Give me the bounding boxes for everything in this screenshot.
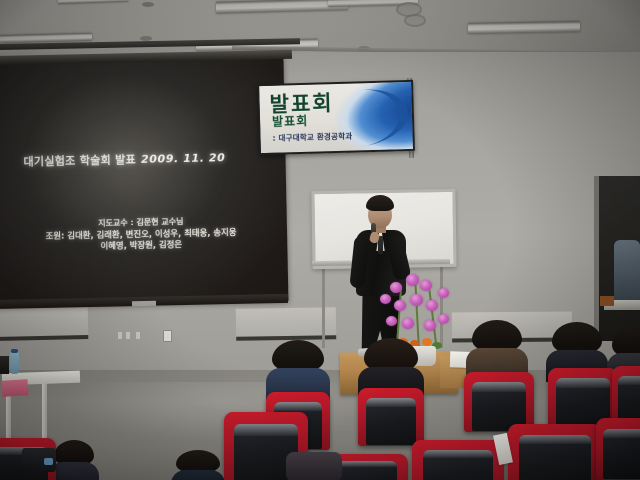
orange-filler-flower bbox=[422, 338, 432, 346]
seat-front-5[interactable] bbox=[596, 418, 640, 480]
orchid-bloom bbox=[424, 320, 436, 331]
slide-title-text: 대기실험조 학술회 발표 bbox=[23, 153, 136, 168]
presenter-hair bbox=[366, 195, 394, 211]
projection-screen: 대기실험조 학술회 발표2009. 11. 20 지도교수 : 김문현 교수님 … bbox=[0, 56, 289, 307]
orchid-bloom bbox=[426, 300, 438, 311]
banner-organization: : 대구대학교 환경공학과 bbox=[272, 131, 352, 144]
seat-highlight bbox=[519, 435, 590, 445]
seat-back-3[interactable] bbox=[464, 372, 534, 432]
seat-front-4[interactable] bbox=[508, 424, 602, 480]
event-banner: 발표회 발표회 : 대구대학교 환경공학과 bbox=[257, 80, 415, 155]
seat-highlight bbox=[603, 429, 640, 439]
device-screen bbox=[44, 458, 53, 465]
dark-object-on-table bbox=[0, 356, 9, 374]
projector-light-glow bbox=[0, 56, 289, 307]
power-outlet bbox=[163, 330, 172, 342]
orchid-bloom bbox=[420, 280, 432, 291]
audience-member-3 bbox=[472, 320, 522, 376]
slide-title-date: 2009. 11. 20 bbox=[141, 151, 226, 166]
orchid-bloom bbox=[410, 294, 423, 306]
audience-member-7 bbox=[176, 450, 220, 480]
doorway-wood-trim bbox=[600, 296, 614, 306]
orchid-bloom bbox=[402, 318, 414, 329]
wall-panel bbox=[0, 307, 88, 341]
orchid-bloom bbox=[406, 274, 419, 286]
water-bottle bbox=[10, 352, 19, 374]
audience-clothing bbox=[171, 470, 226, 480]
orchid-bloom bbox=[390, 282, 402, 293]
orchid-bloom bbox=[438, 288, 449, 298]
banner-subline: 발표회 bbox=[272, 112, 309, 130]
floor-reflection bbox=[60, 382, 380, 442]
orchid-bloom bbox=[438, 314, 449, 324]
seat-back-2[interactable] bbox=[358, 388, 424, 446]
seat-highlight bbox=[234, 424, 298, 436]
pink-papers bbox=[1, 379, 28, 397]
ceiling-light-fixture bbox=[58, 0, 128, 4]
audience-member-1 bbox=[272, 340, 324, 396]
seat-highlight bbox=[556, 378, 609, 388]
person-in-doorway bbox=[614, 240, 640, 300]
wall-conduit bbox=[126, 332, 130, 339]
audience-member-6 bbox=[54, 440, 94, 480]
seat-highlight bbox=[472, 382, 525, 392]
seat-highlight bbox=[366, 398, 416, 407]
ceiling-vent bbox=[142, 2, 154, 7]
orchid-bloom bbox=[386, 316, 397, 326]
orchid-bloom bbox=[380, 294, 391, 304]
wall-conduit bbox=[136, 332, 140, 339]
whiteboard-leg bbox=[322, 262, 325, 348]
bottle-cap bbox=[11, 349, 18, 353]
seat-highlight bbox=[274, 402, 323, 411]
ceiling-light-fixture bbox=[468, 21, 580, 34]
orchid-bloom bbox=[394, 300, 406, 311]
seat-front-3[interactable] bbox=[412, 440, 504, 480]
bag-on-seat bbox=[286, 452, 342, 480]
seat-highlight bbox=[618, 376, 640, 385]
presentation-photo-scene: 대기실험조 학술회 발표2009. 11. 20 지도교수 : 김문현 교수님 … bbox=[0, 0, 640, 480]
wall-conduit bbox=[118, 332, 122, 339]
ceiling-speaker bbox=[404, 14, 426, 27]
seat-back-5[interactable] bbox=[612, 366, 640, 424]
projection-screen-pull-tab bbox=[132, 301, 156, 307]
seat-highlight bbox=[423, 450, 493, 459]
audience-clothing bbox=[49, 462, 99, 480]
